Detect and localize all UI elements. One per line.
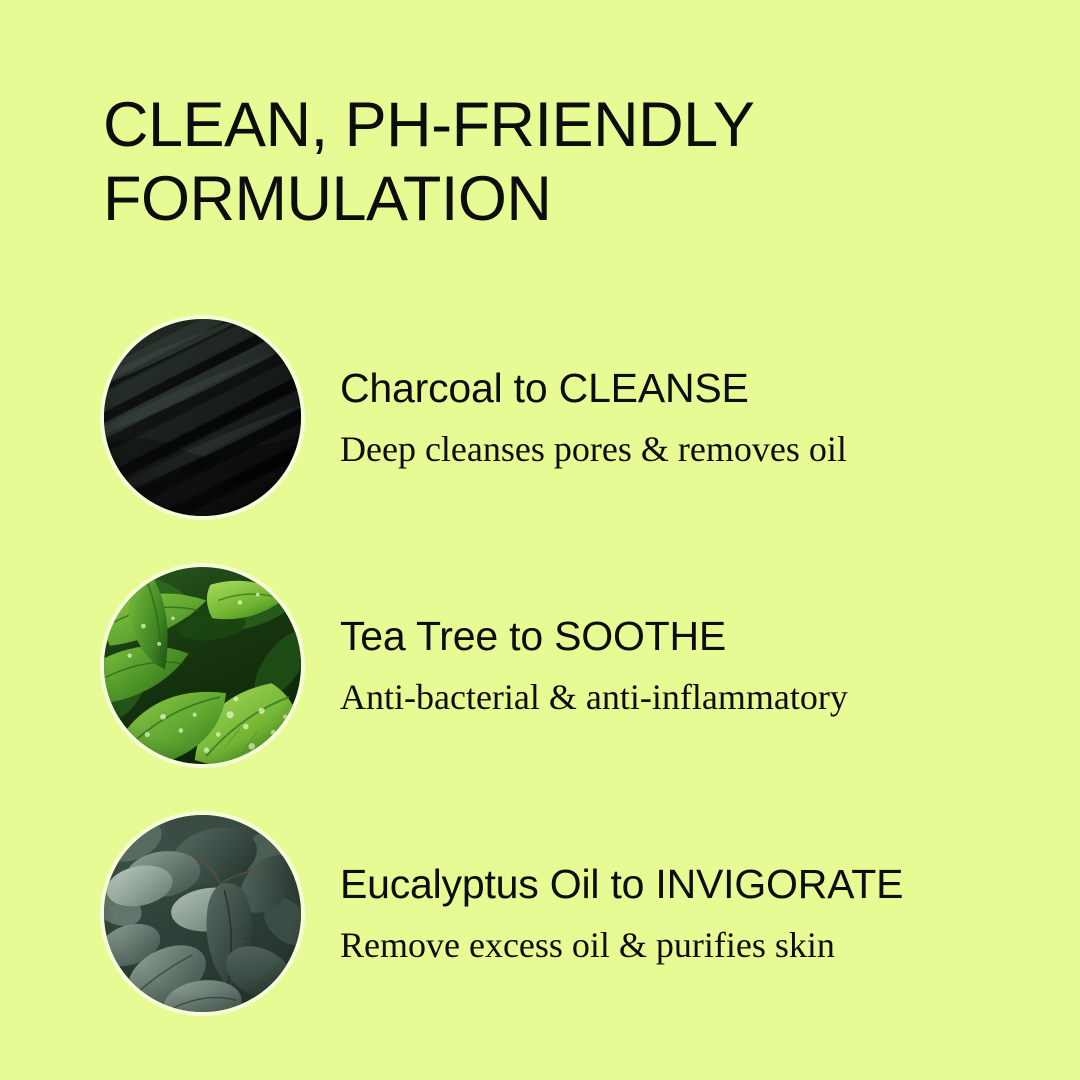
- feature-list: Charcoal to CLEANSE Deep cleanses pores …: [0, 315, 1080, 1059]
- feature-row: Charcoal to CLEANSE Deep cleanses pores …: [0, 315, 1080, 520]
- feature-description: Remove excess oil & purifies skin: [340, 922, 835, 968]
- feature-thumb-charcoal: [100, 315, 305, 520]
- feature-thumb-eucalyptus: [100, 811, 305, 1016]
- page-title-line-1: CLEAN, PH-FRIENDLY: [103, 88, 983, 162]
- eucalyptus-leaves-image: [104, 815, 301, 1012]
- feature-thumb-tea-tree: [100, 563, 305, 768]
- page-title: CLEAN, PH-FRIENDLY FORMULATION: [103, 88, 983, 236]
- feature-title: Eucalyptus Oil to INVIGORATE: [340, 860, 903, 908]
- feature-text-block: Charcoal to CLEANSE Deep cleanses pores …: [340, 315, 1060, 520]
- feature-text-block: Eucalyptus Oil to INVIGORATE Remove exce…: [340, 811, 1060, 1016]
- page-title-line-2: FORMULATION: [103, 162, 983, 236]
- feature-title: Tea Tree to SOOTHE: [340, 612, 726, 660]
- tea-tree-leaves-image: [104, 567, 301, 764]
- feature-description: Deep cleanses pores & removes oil: [340, 426, 847, 472]
- charcoal-texture-image: [104, 319, 301, 516]
- feature-text-block: Tea Tree to SOOTHE Anti-bacterial & anti…: [340, 563, 1060, 768]
- feature-row: Eucalyptus Oil to INVIGORATE Remove exce…: [0, 811, 1080, 1016]
- promo-graphic: CLEAN, PH-FRIENDLY FORMULATION: [0, 0, 1080, 1080]
- feature-description: Anti-bacterial & anti-inflammatory: [340, 674, 848, 720]
- feature-row: Tea Tree to SOOTHE Anti-bacterial & anti…: [0, 563, 1080, 768]
- feature-title: Charcoal to CLEANSE: [340, 364, 749, 412]
